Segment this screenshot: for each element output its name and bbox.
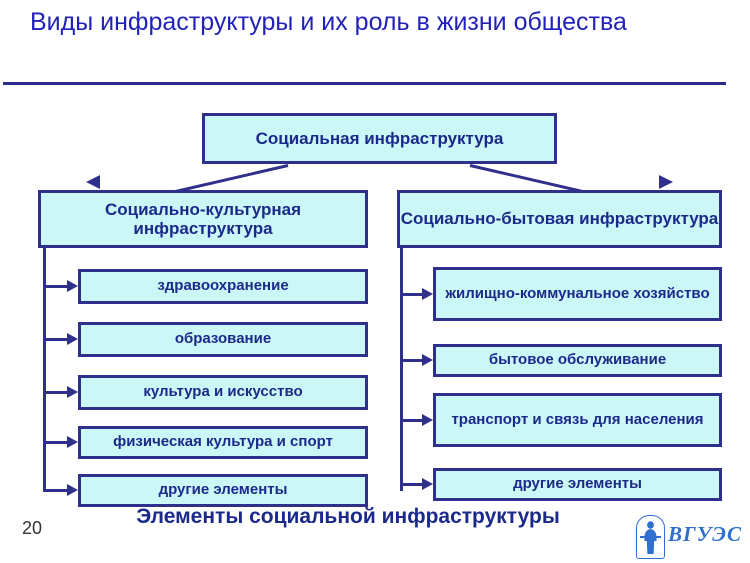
right-arrowhead-3 — [422, 414, 433, 426]
left-connector-1 — [43, 285, 67, 288]
right-connector-2 — [400, 359, 422, 362]
left-arrowhead-3 — [67, 386, 78, 398]
branch-header-social-cultural-label: Социально-культурная инфраструктура — [41, 200, 365, 238]
leaf-drugie-elementy-left-label: другие элементы — [159, 482, 288, 499]
slide-canvas: Виды инфраструктуры и их роль в жизни об… — [0, 0, 750, 562]
right-connector-3 — [400, 419, 422, 422]
leaf-obrazovanie[interactable]: образование — [78, 322, 368, 357]
root-to-right-branch-arrowhead — [659, 175, 673, 189]
leaf-drugie-elementy-left[interactable]: другие элементы — [78, 474, 368, 507]
leaf-fizicheskaya-kultura-i-sport-label: физическая культура и спорт — [113, 434, 333, 451]
branch-header-social-domestic-label: Социально-бытовая инфраструктура — [401, 209, 719, 228]
left-connector-4 — [43, 441, 67, 444]
left-arrowhead-2 — [67, 333, 78, 345]
leaf-bytovoe-obsluzhivanie-label: бытовое обслуживание — [489, 352, 666, 369]
right-arrowhead-1 — [422, 288, 433, 300]
leaf-transport-i-svyaz-dlya-naseleniya[interactable]: транспорт и связь для населения — [433, 393, 722, 447]
left-arrowhead-5 — [67, 484, 78, 496]
right-arrowhead-4 — [422, 478, 433, 490]
leaf-zhilishchno-kommunalnoe-hozyaystvo-label: жилищно-коммунальное хозяйство — [445, 286, 709, 303]
leaf-obrazovanie-label: образование — [175, 331, 271, 348]
logo-figure-icon — [636, 515, 665, 559]
left-connector-5 — [43, 489, 67, 492]
leaf-bytovoe-obsluzhivanie[interactable]: бытовое обслуживание — [433, 344, 722, 377]
diagram-caption: Элементы социальной инфраструктуры — [88, 505, 608, 529]
leaf-kultura-i-iskusstvo-label: культура и искусство — [143, 384, 302, 401]
right-connector-1 — [400, 293, 422, 296]
right-connector-4 — [400, 483, 422, 486]
title-divider — [3, 82, 726, 85]
leaf-zdravoohranenie-label: здравоохранение — [157, 278, 288, 295]
leaf-zdravoohranenie[interactable]: здравоохранение — [78, 269, 368, 304]
leaf-transport-i-svyaz-dlya-naseleniya-label: транспорт и связь для населения — [451, 412, 703, 429]
left-arrowhead-4 — [67, 436, 78, 448]
left-connector-3 — [43, 391, 67, 394]
root-to-left-branch-arrowhead — [86, 175, 100, 189]
left-connector-2 — [43, 338, 67, 341]
right-arrowhead-2 — [422, 354, 433, 366]
logo-wordmark: ВГУЭС — [668, 522, 742, 547]
leaf-kultura-i-iskusstvo[interactable]: культура и искусство — [78, 375, 368, 410]
slide-number: 20 — [22, 518, 42, 539]
page-title: Виды инфраструктуры и их роль в жизни об… — [30, 6, 720, 39]
root-node[interactable]: Социальная инфраструктура — [202, 113, 557, 164]
leaf-drugie-elementy-right-label: другие элементы — [513, 476, 642, 493]
leaf-drugie-elementy-right[interactable]: другие элементы — [433, 468, 722, 501]
leaf-zhilishchno-kommunalnoe-hozyaystvo[interactable]: жилищно-коммунальное хозяйство — [433, 267, 722, 321]
right-branch-spine — [400, 248, 403, 491]
vgues-logo: ВГУЭС — [636, 513, 744, 559]
branch-header-social-cultural[interactable]: Социально-культурная инфраструктура — [38, 190, 368, 248]
root-node-label: Социальная инфраструктура — [256, 129, 504, 148]
leaf-fizicheskaya-kultura-i-sport[interactable]: физическая культура и спорт — [78, 426, 368, 459]
left-arrowhead-1 — [67, 280, 78, 292]
branch-header-social-domestic[interactable]: Социально-бытовая инфраструктура — [397, 190, 722, 248]
